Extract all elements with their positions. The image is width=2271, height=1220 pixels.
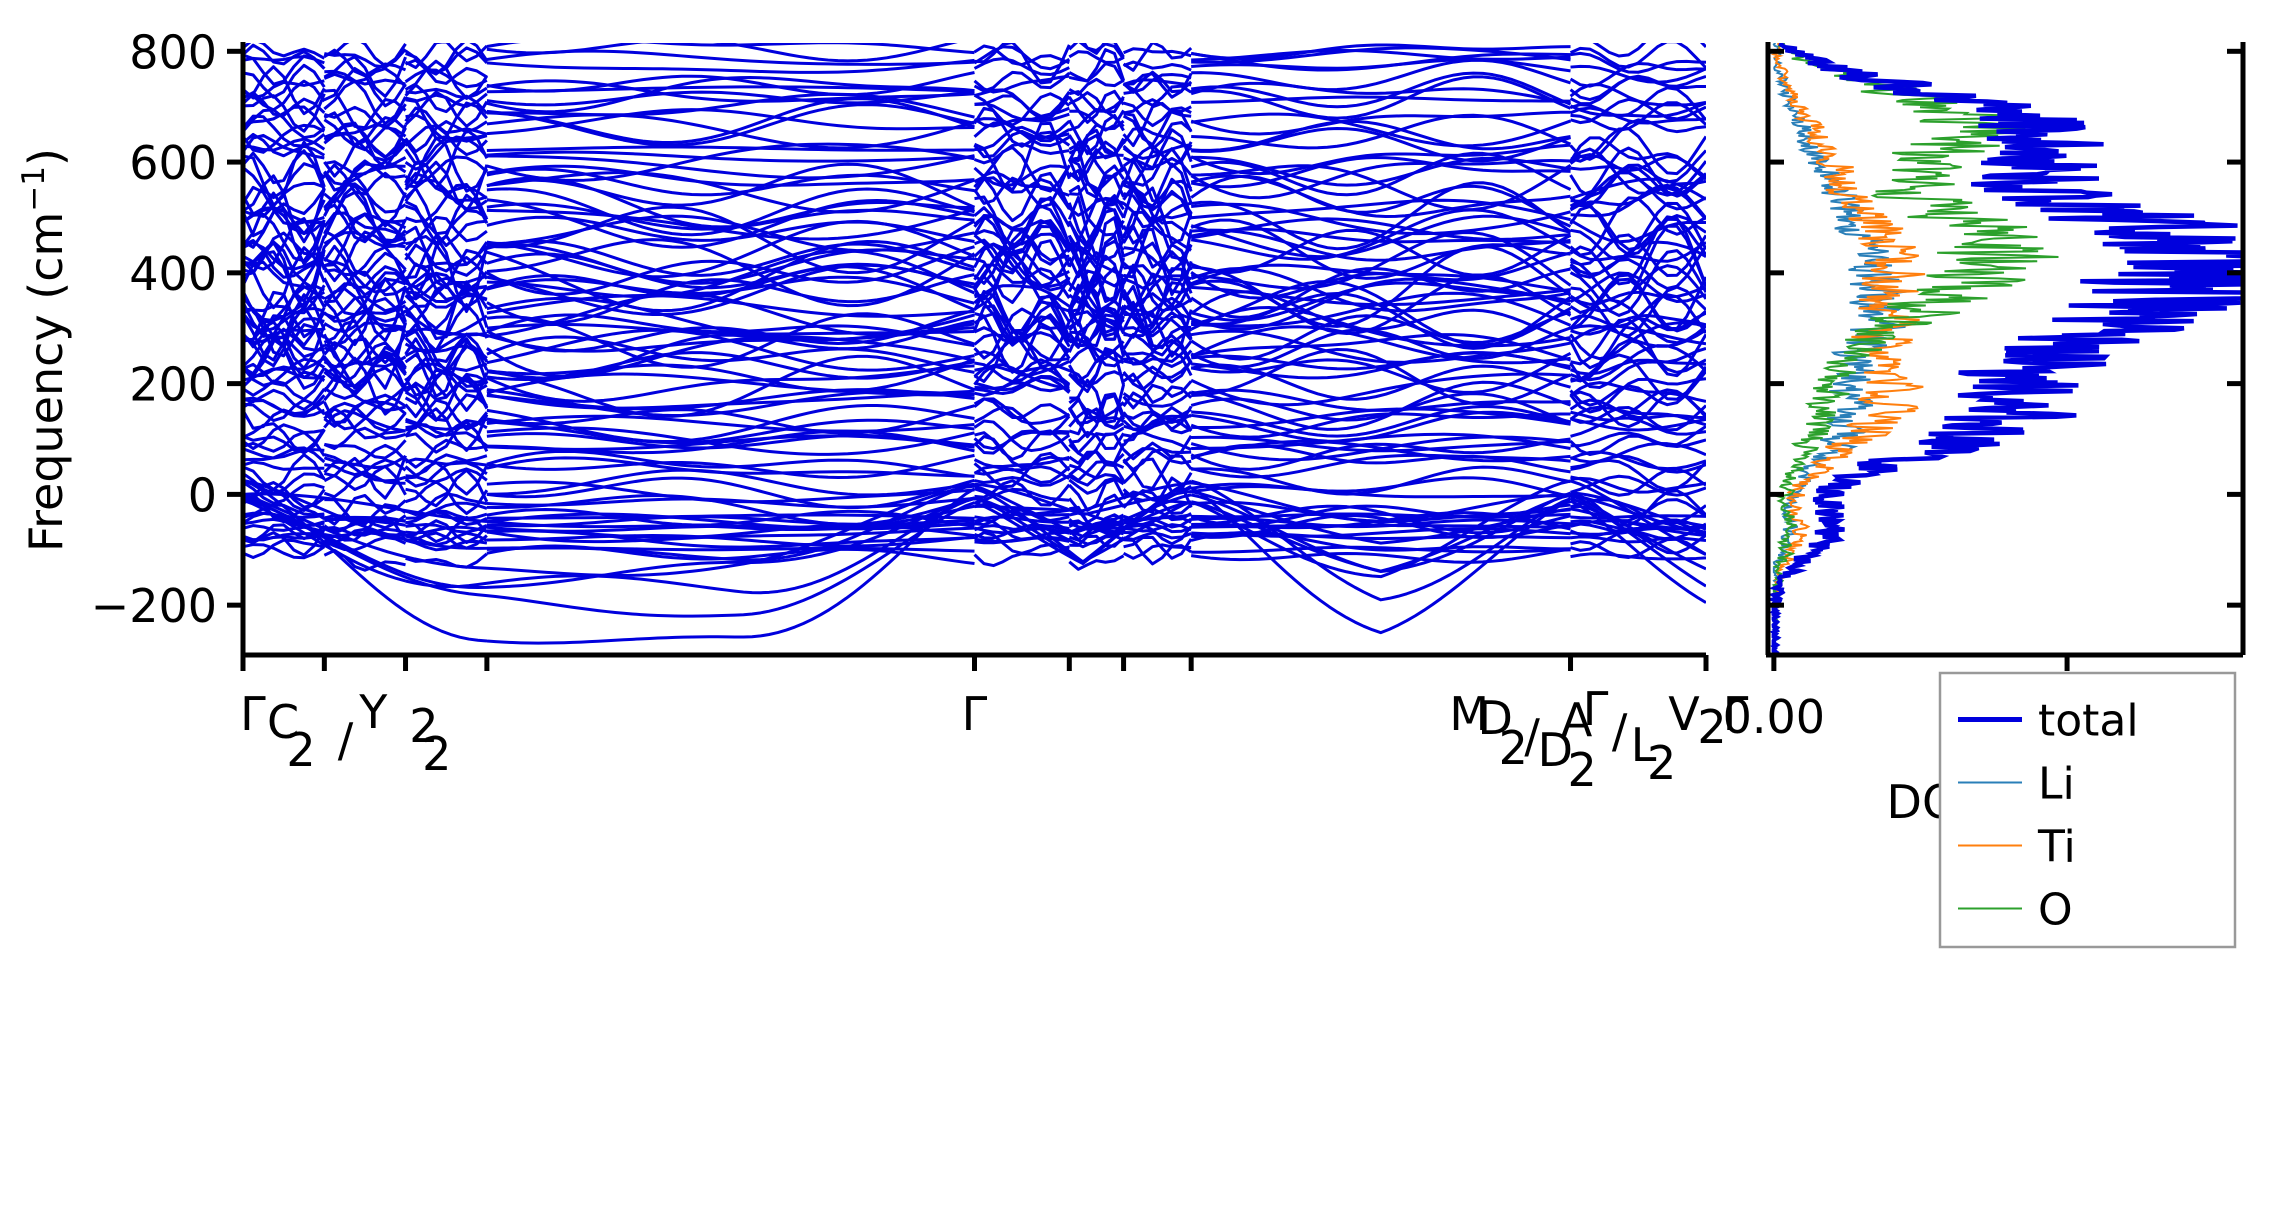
svg-text:Γ: Γ <box>1583 682 1609 736</box>
x-tick-label-v2: V2 <box>1668 687 1726 754</box>
legend-label: Ti <box>2037 821 2076 872</box>
y-axis-label-exp: −1 <box>16 166 52 212</box>
svg-text:Y: Y <box>358 685 388 739</box>
svg-text:2: 2 <box>1647 736 1676 790</box>
dos-curve-total <box>1774 43 2267 655</box>
figure-svg: Frequency (cm−1) 8006004002000−200ΓC2/Y2… <box>0 0 2271 1220</box>
svg-text:Γ: Γ <box>240 687 266 741</box>
y-tick-label: 0 <box>188 468 217 522</box>
dos-panel <box>1766 42 2266 671</box>
legend-label: O <box>2038 884 2073 935</box>
y-tick-label: 200 <box>129 358 217 412</box>
legend-label: Li <box>2038 758 2075 809</box>
dos-x-tick-label: 0.00 <box>1723 690 1825 744</box>
y-tick-label: 800 <box>129 25 217 79</box>
band-structure-panel <box>227 23 1706 671</box>
y-axis-label: Frequency (cm−1) <box>16 148 73 552</box>
x-tick-label-group-gamma-c2-y2: ΓC2/Y22 <box>240 685 451 781</box>
dos-curves <box>1774 43 2267 655</box>
x-tick-label-group-m2-d2-a: MD2/D2A <box>1449 687 1596 797</box>
y-tick-label: 600 <box>129 136 217 190</box>
y-tick-label: −200 <box>91 579 217 633</box>
legend-label: total <box>2038 695 2139 746</box>
y-axis-label-close: ) <box>19 148 73 166</box>
dos-legend[interactable]: totalLiTiO <box>1940 673 2235 947</box>
figure-canvas: Frequency (cm−1) 8006004002000−200ΓC2/Y2… <box>0 0 2271 1220</box>
svg-text:Frequency (cm−1): Frequency (cm−1) <box>16 148 73 552</box>
svg-text:2: 2 <box>286 723 315 777</box>
phonon-branches <box>243 23 1706 643</box>
y-axis-label-text: Frequency (cm <box>19 212 73 552</box>
svg-text:/: / <box>1612 704 1628 758</box>
x-tick-label-gamma-center: Γ <box>962 687 988 741</box>
svg-text:2: 2 <box>1568 743 1597 797</box>
svg-text:2: 2 <box>422 727 451 781</box>
svg-text:/: / <box>338 713 354 767</box>
y-tick-label: 400 <box>129 247 217 301</box>
svg-text:V: V <box>1668 687 1700 741</box>
